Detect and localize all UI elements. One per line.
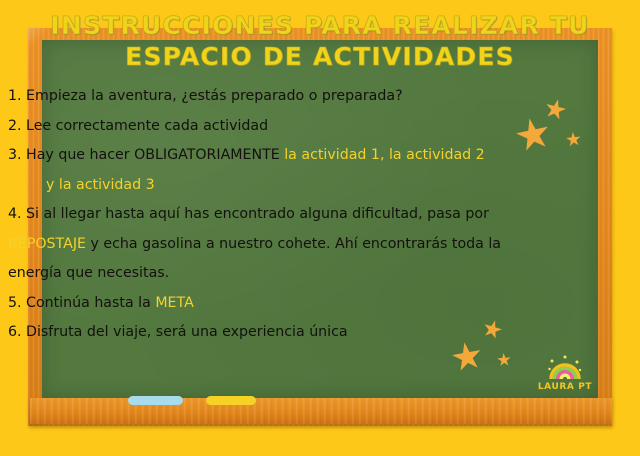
instruction-text: 6. Disfruta del viaje, será una experien…: [8, 324, 348, 340]
instructions-list: 1. Empieza la aventura, ¿estás preparado…: [8, 82, 630, 348]
instruction-highlight: la actividad 1, la actividad 2: [284, 147, 484, 163]
instruction-line: y la actividad 3: [8, 171, 630, 201]
instruction-highlight: REPOSTAJE: [8, 236, 86, 252]
instruction-line: 2. Lee correctamente cada actividad: [8, 112, 630, 142]
instruction-line: energía que necesitas.: [8, 259, 630, 289]
brand-logo: LAURA PT: [526, 355, 604, 399]
brand-logo-label: LAURA PT: [526, 382, 604, 392]
title-line-1: INSTRUCCIONES PARA REALIZAR TU: [0, 10, 640, 41]
instruction-text: 4. Si al llegar hasta aquí has encontrad…: [8, 206, 489, 222]
poster-canvas: INSTRUCCIONES PARA REALIZAR TU ESPACIO D…: [0, 0, 640, 456]
instruction-line: 6. Disfruta del viaje, será una experien…: [8, 318, 630, 348]
chalk-ledge: [30, 398, 612, 424]
instruction-line: 4. Si al llegar hasta aquí has encontrad…: [8, 200, 630, 230]
instruction-text: 1. Empieza la aventura, ¿estás preparado…: [8, 88, 403, 104]
rainbow-icon: [548, 355, 582, 381]
instruction-text: 3. Hay que hacer OBLIGATORIAMENTE: [8, 147, 284, 163]
page-title: INSTRUCCIONES PARA REALIZAR TU ESPACIO D…: [0, 10, 640, 72]
title-line-2: ESPACIO DE ACTIVIDADES: [0, 41, 640, 72]
instruction-text: 2. Lee correctamente cada actividad: [8, 118, 268, 134]
instruction-line: 3. Hay que hacer OBLIGATORIAMENTE la act…: [8, 141, 630, 171]
instruction-highlight: y la actividad 3: [46, 177, 155, 193]
instruction-line: REPOSTAJE y echa gasolina a nuestro cohe…: [8, 230, 630, 260]
yellow-chalk: [206, 396, 256, 405]
instruction-line: 1. Empieza la aventura, ¿estás preparado…: [8, 82, 630, 112]
blue-chalk: [128, 396, 183, 405]
instruction-highlight: META: [155, 295, 193, 311]
instruction-line: 5. Continúa hasta la META: [8, 289, 630, 319]
instruction-text: y echa gasolina a nuestro cohete. Ahí en…: [86, 236, 501, 252]
instruction-text: 5. Continúa hasta la: [8, 295, 155, 311]
instruction-text: energía que necesitas.: [8, 265, 169, 281]
